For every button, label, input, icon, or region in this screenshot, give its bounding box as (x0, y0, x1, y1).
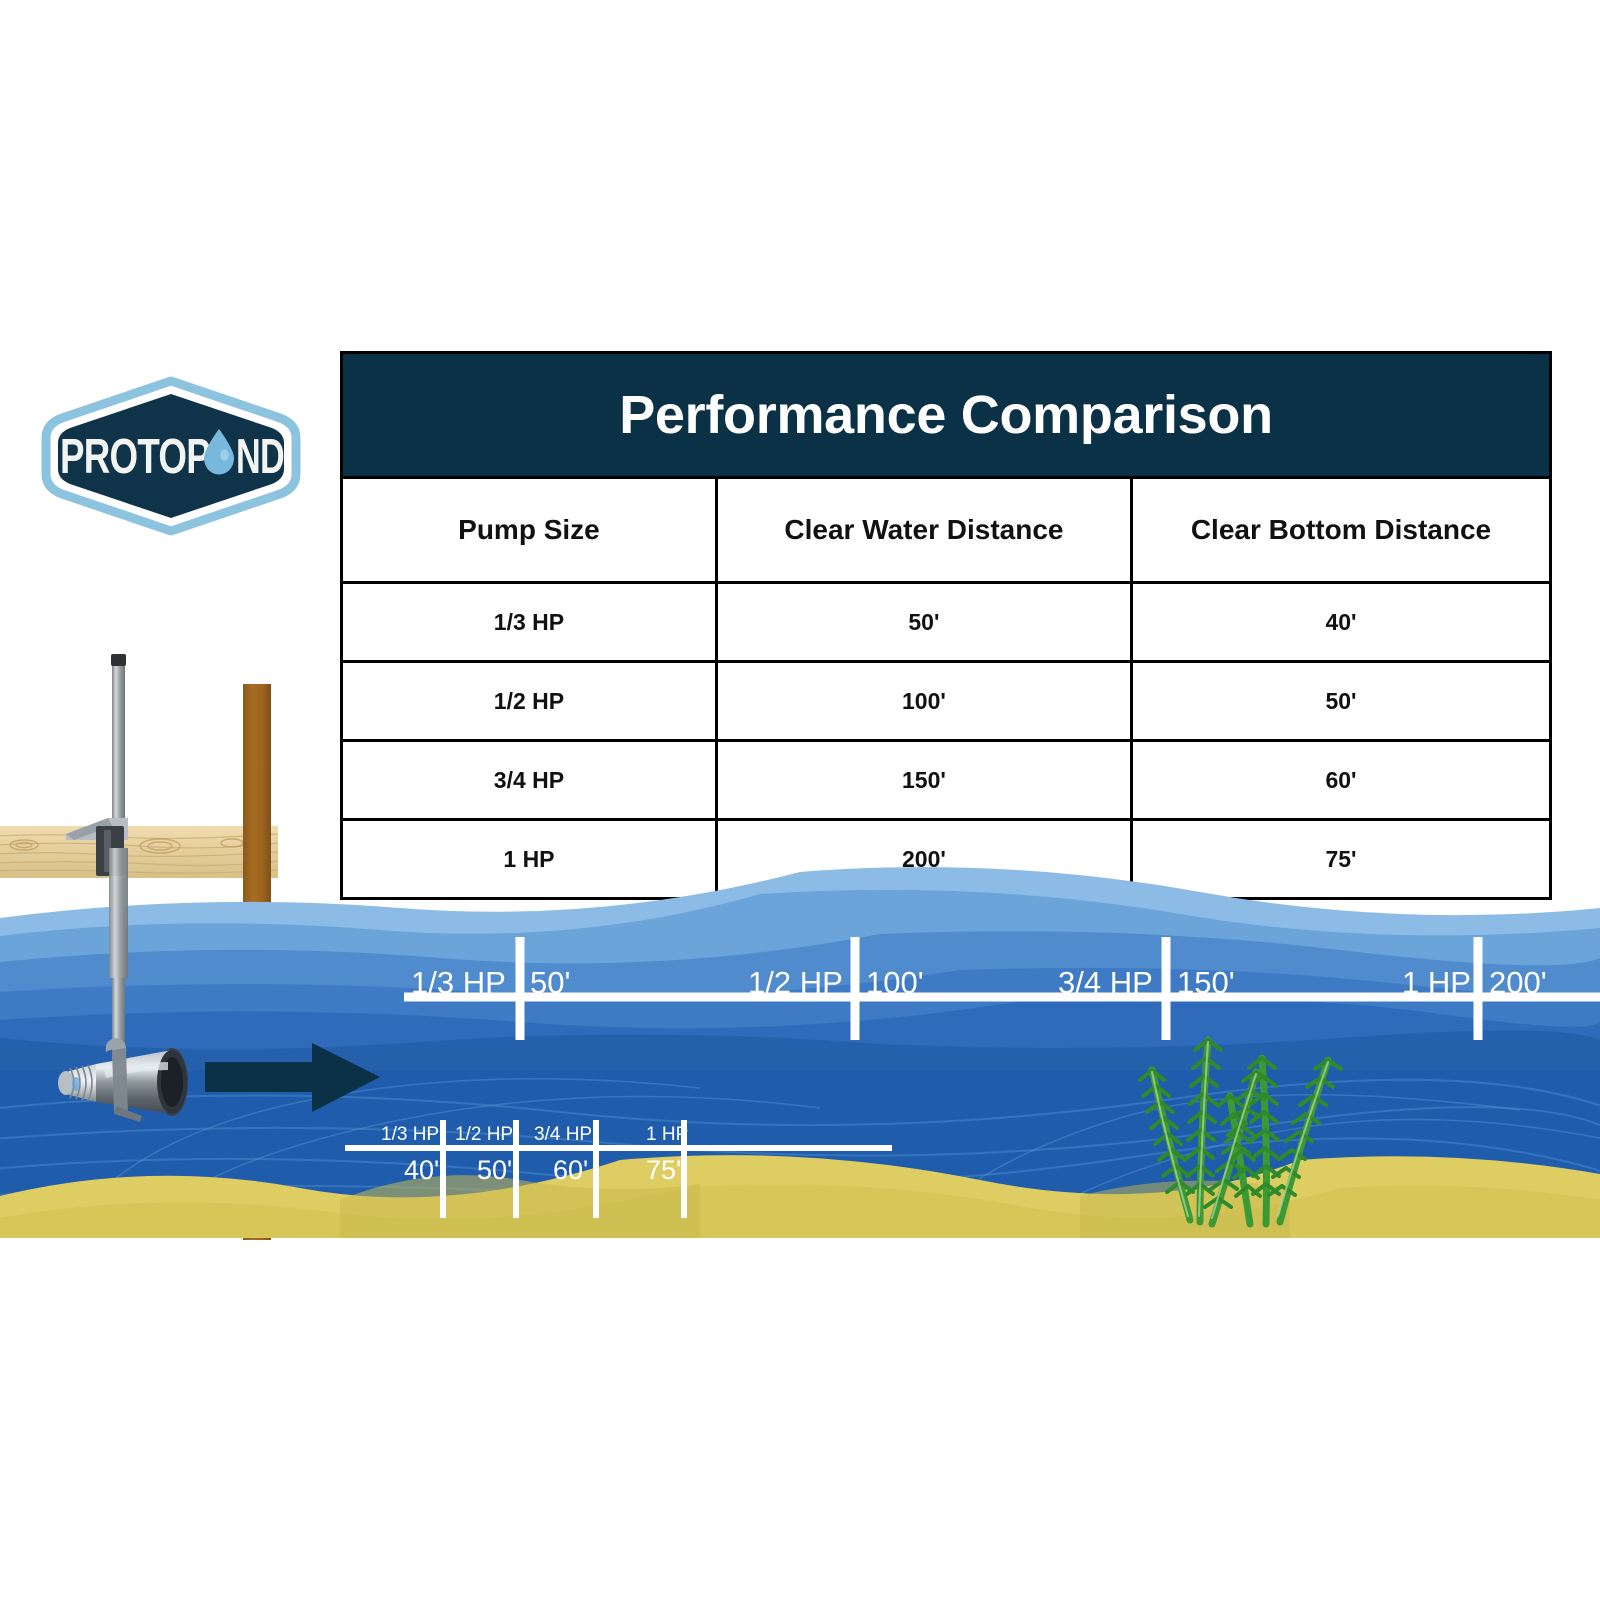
water-ruler-label-hp-4: 1 HP (1402, 967, 1471, 998)
table-title-cell: Performance Comparison (342, 353, 1551, 478)
bottom-ruler-value-3: 60' (553, 1157, 588, 1184)
bottom-ruler-value-1: 40' (404, 1157, 439, 1184)
water-ruler-label-value-4: 200' (1489, 967, 1547, 998)
bottom-ruler-value-4: 75' (646, 1157, 681, 1184)
water-ruler-label-hp-2: 1/2 HP (748, 967, 843, 998)
table-title-row: Performance Comparison (342, 353, 1551, 478)
bottom-ruler-label-hp-1: 1/3 HP (381, 1125, 439, 1144)
bottom-ruler-value-2: 50' (477, 1157, 512, 1184)
bottom-ruler-label-hp-2: 1/2 HP (455, 1125, 513, 1144)
protopond-logo: PROTOP ND (40, 376, 302, 536)
logo-wordmark-front: PROTOP (60, 430, 210, 484)
logo-badge-svg: PROTOP ND (40, 376, 302, 536)
water-ruler-label-value-3: 150' (1177, 967, 1235, 998)
bottom-ruler-label-hp-3: 3/4 HP (534, 1125, 592, 1144)
water-ruler-label-hp-3: 3/4 HP (1058, 967, 1153, 998)
logo-wordmark-tail: ND (236, 430, 284, 484)
water-ruler-label-value-1: 50' (530, 967, 570, 998)
page-title: Performance Comparison (343, 388, 1549, 442)
column-header-clear-bottom-distance: Clear Bottom Distance (1131, 478, 1550, 583)
dock-beam (0, 826, 278, 878)
pond-illustration (0, 640, 1600, 1240)
column-header-pump-size: Pump Size (342, 478, 717, 583)
column-header-clear-water-distance: Clear Water Distance (716, 478, 1131, 583)
water-ruler-label-hp-1: 1/3 HP (411, 967, 506, 998)
water-ruler-label-value-2: 100' (866, 967, 924, 998)
bottom-ruler-label-hp-4: 1 HP (646, 1125, 688, 1144)
table-header-row: Pump Size Clear Water Distance Clear Bot… (342, 478, 1551, 583)
